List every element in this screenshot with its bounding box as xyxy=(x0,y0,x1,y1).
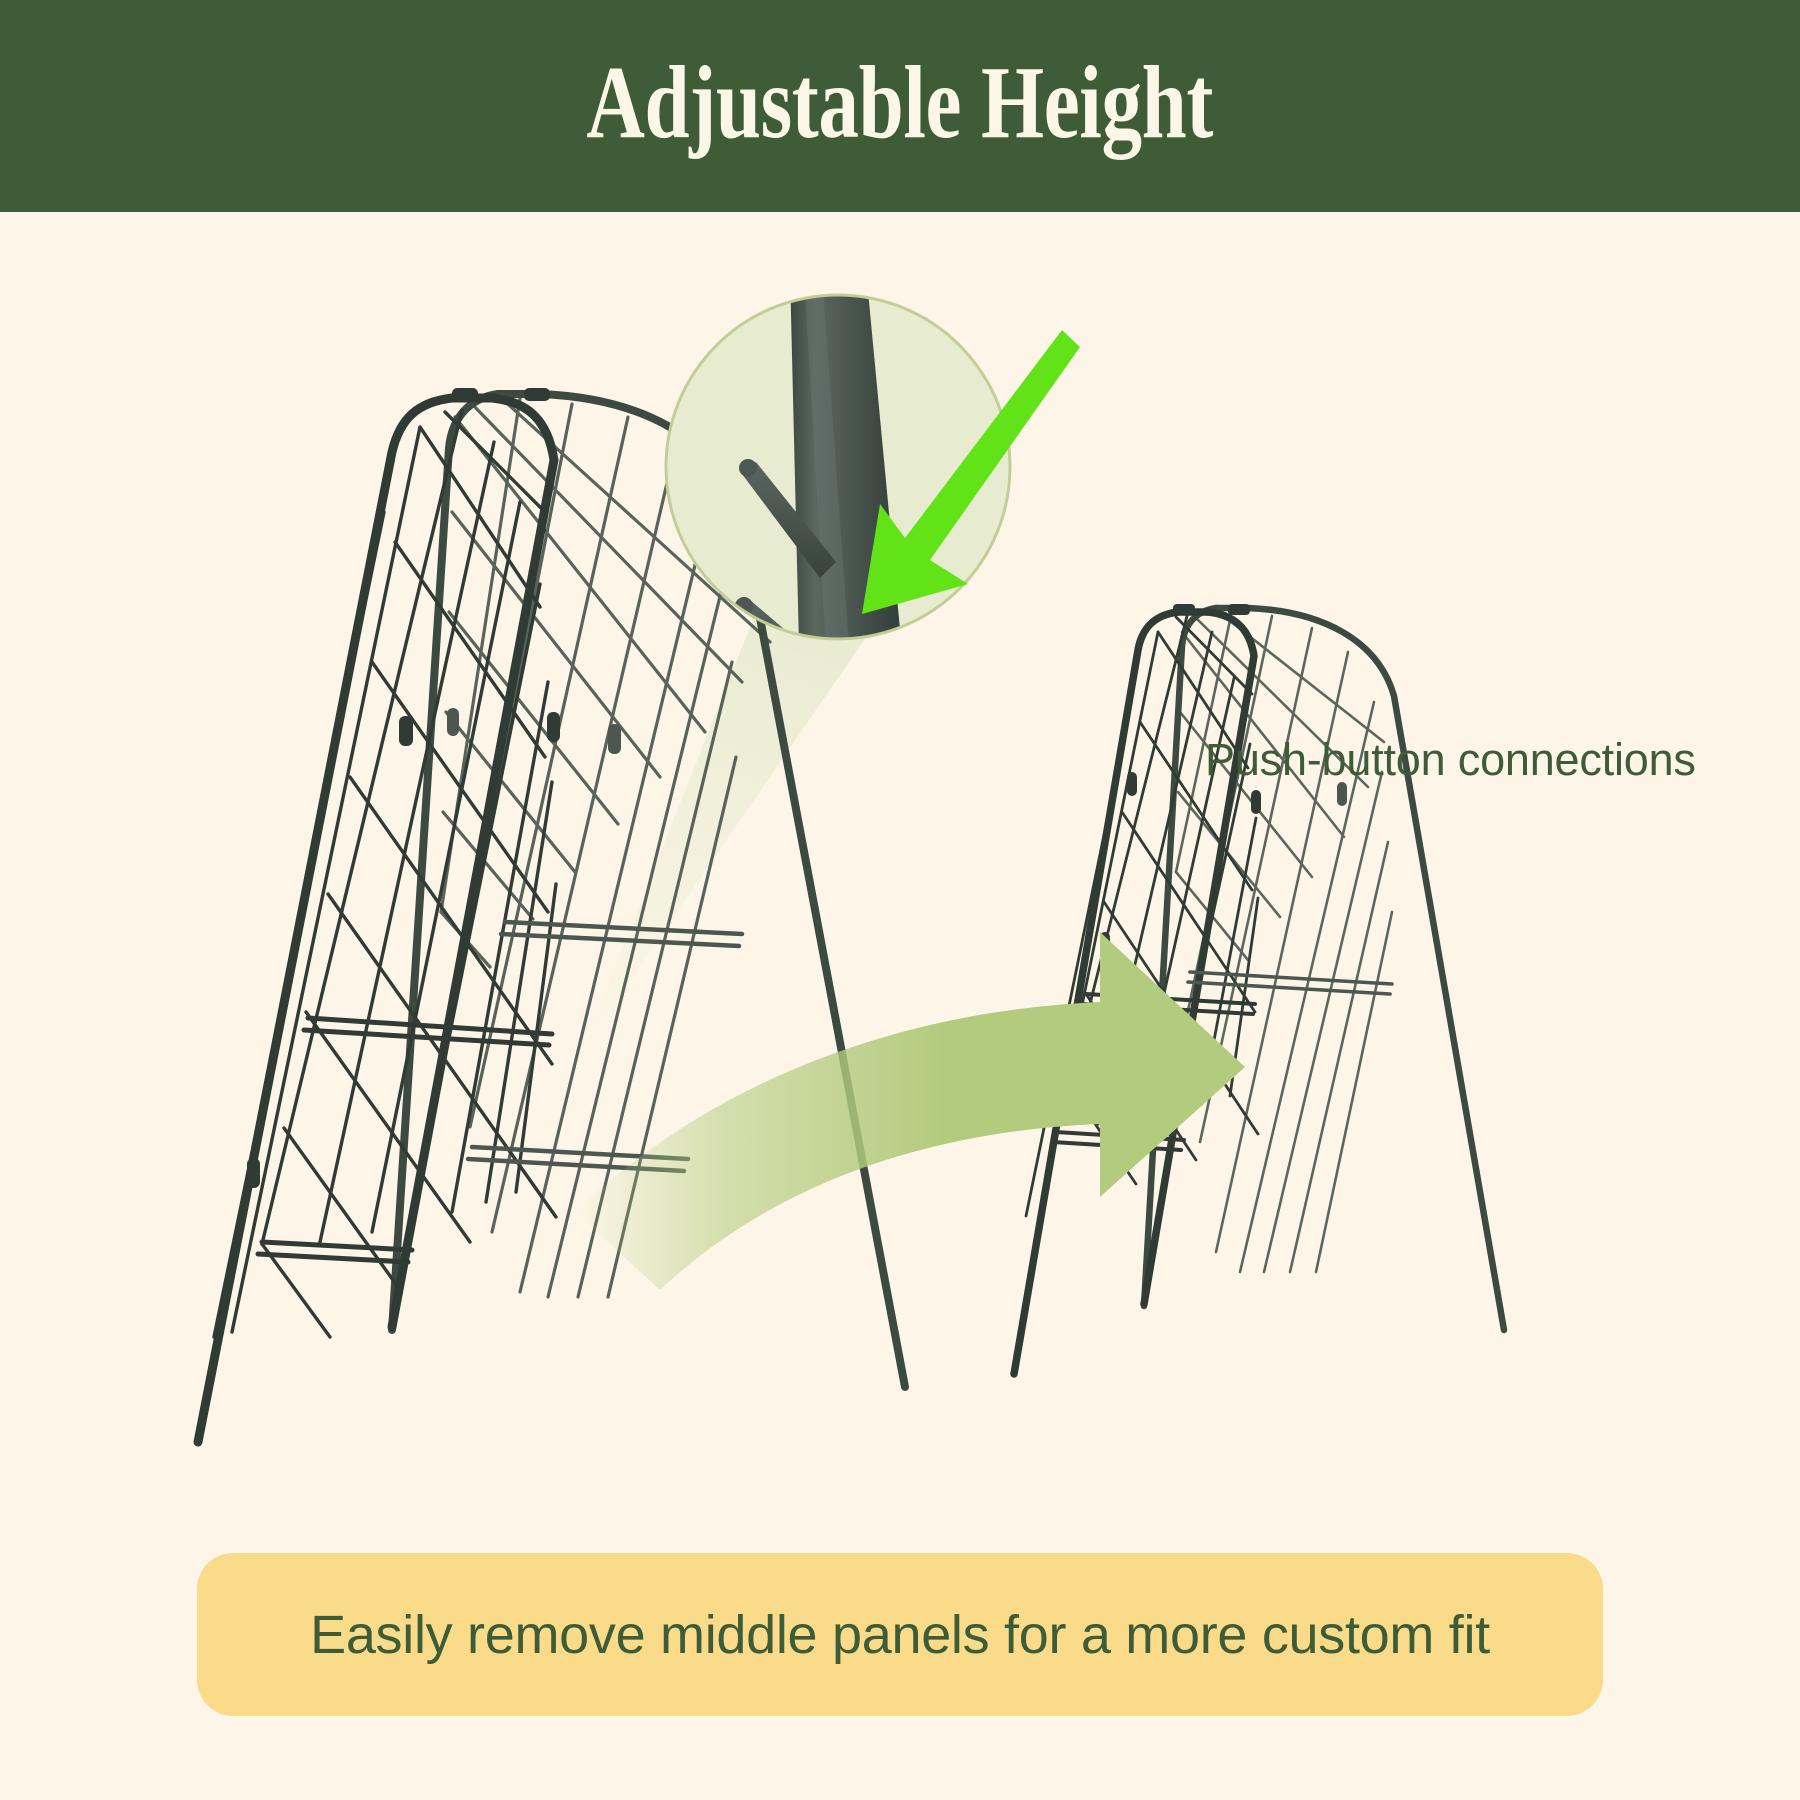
transform-arrow-icon xyxy=(575,932,1245,1290)
footer-banner: Easily remove middle panels for a more c… xyxy=(197,1553,1603,1716)
product-illustration xyxy=(0,212,1800,1552)
footer-caption: Easily remove middle panels for a more c… xyxy=(310,1604,1490,1666)
product-illustration-stage: Push-button connections xyxy=(0,212,1800,1552)
header-bar: Adjustable Height xyxy=(0,0,1800,212)
trellis-reduced-height xyxy=(1014,604,1504,1374)
callout-label: Push-button connections xyxy=(1205,734,1696,786)
infographic-page: Adjustable Height xyxy=(0,0,1800,1800)
page-title: Adjustable Height xyxy=(587,51,1214,161)
